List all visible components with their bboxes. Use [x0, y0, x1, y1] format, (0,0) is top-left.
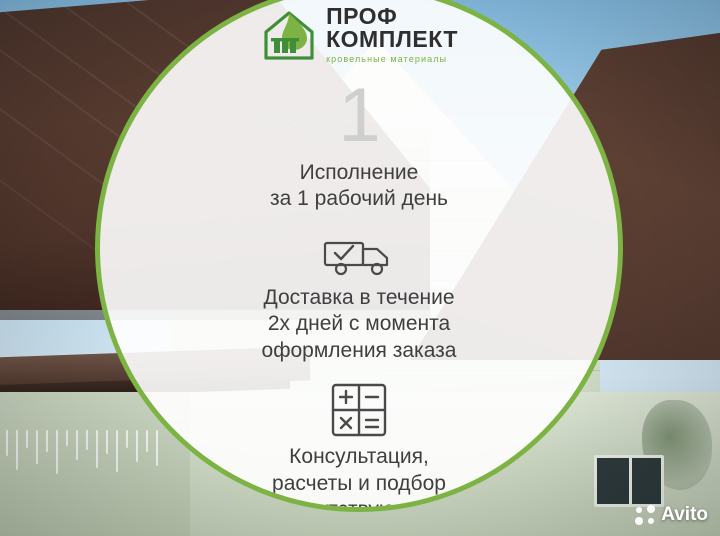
promo-block-3-text: Консультация, расчеты и подбор сопутству…	[272, 444, 446, 512]
promo-block-2-text: Доставка в течение 2х дней с момента офо…	[262, 285, 457, 364]
logo-line-2: КОМПЛЕКТ	[326, 28, 458, 51]
promo-block-1: 1 Исполнение за 1 рабочий день	[270, 64, 448, 213]
avito-dots-icon	[635, 505, 655, 525]
promo-block-2: Доставка в течение 2х дней с момента офо…	[262, 213, 457, 364]
number-one-icon: 1	[270, 78, 448, 154]
home-logo-icon	[260, 6, 318, 64]
promo-block-1-text: Исполнение за 1 рабочий день	[270, 160, 448, 213]
brand-logo-text: ПРОФ КОМПЛЕКТ кровельные материалы	[326, 5, 458, 64]
logo-tagline: кровельные материалы	[326, 55, 458, 64]
screenshot-root: ПРОФ КОМПЛЕКТ кровельные материалы 1 Исп…	[0, 0, 720, 536]
avito-label: Avito	[661, 504, 708, 526]
promo-block-3: Консультация, расчеты и подбор сопутству…	[272, 364, 446, 512]
delivery-truck-icon	[262, 231, 457, 279]
logo-line-1: ПРОФ	[326, 5, 458, 28]
calculator-icon	[272, 382, 446, 438]
promo-circle-overlay: ПРОФ КОМПЛЕКТ кровельные материалы 1 Исп…	[95, 0, 623, 512]
avito-watermark: Avito	[635, 504, 708, 526]
brand-logo: ПРОФ КОМПЛЕКТ кровельные материалы	[260, 5, 458, 64]
